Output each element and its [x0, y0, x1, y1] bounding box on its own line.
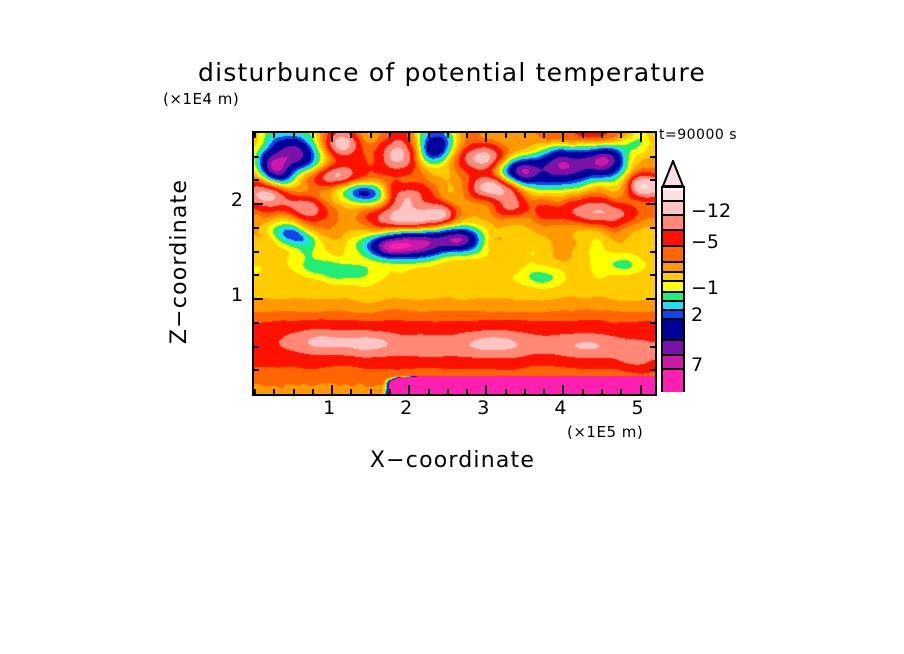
y-tick-right [650, 156, 655, 158]
y-tick-left [254, 203, 263, 205]
x-tick-top [582, 133, 584, 138]
colorbar-band-separator [663, 200, 683, 202]
x-tick-bottom [389, 389, 391, 394]
y-axis-title: Z−coordinate [168, 160, 192, 363]
colorbar-band-separator [663, 245, 683, 247]
time-annotation: t=90000 s [659, 127, 737, 143]
z-axis-units-label: (×1E4 m) [163, 90, 239, 108]
x-tick-bottom [562, 385, 564, 394]
colorbar-band-separator [663, 309, 683, 311]
x-tick-bottom [466, 389, 468, 394]
x-tick-top [505, 133, 507, 138]
y-axis-title-text: Z−coordinate [168, 179, 193, 344]
x-tick-label: 2 [386, 397, 426, 419]
x-tick-top [408, 133, 410, 142]
colorbar-band-separator [663, 318, 683, 320]
y-tick-right [650, 227, 655, 229]
y-tick-label: 1 [203, 284, 243, 306]
y-tick-label: 2 [203, 189, 243, 211]
contour-plot-frame [252, 131, 657, 396]
y-tick-right [646, 203, 655, 205]
colorbar-band-separator [663, 229, 683, 231]
colorbar-band [663, 215, 683, 230]
x-tick-bottom [428, 389, 430, 394]
x-tick-top [543, 133, 545, 138]
colorbar-band [663, 230, 683, 246]
x-tick-label: 1 [309, 397, 349, 419]
x-tick-bottom [640, 385, 642, 394]
colorbar-band-separator [663, 339, 683, 341]
x-tick-bottom [350, 389, 352, 394]
colorbar-band [663, 369, 683, 392]
x-tick-label: 3 [463, 397, 503, 419]
x-tick-top [331, 133, 333, 142]
page-title: disturbunce of potential temperature [0, 58, 904, 87]
x-tick-top [485, 133, 487, 142]
x-tick-bottom [447, 389, 449, 394]
y-tick-left [254, 298, 263, 300]
x-tick-bottom [293, 389, 295, 394]
colorbar-band [663, 340, 683, 355]
colorbar-band-separator [663, 354, 683, 356]
colorbar-band-separator [663, 300, 683, 302]
y-tick-left [254, 227, 259, 229]
x-tick-top [620, 133, 622, 138]
colorbar-tick-label: 7 [691, 354, 703, 376]
colorbar-band-separator [663, 368, 683, 370]
x-tick-label: 5 [618, 397, 658, 419]
colorbar: 72−1−5−12 [661, 186, 685, 392]
y-tick-right [650, 369, 655, 371]
colorbar-band-separator [663, 214, 683, 216]
x-tick-top [466, 133, 468, 138]
x-tick-bottom [601, 389, 603, 394]
y-tick-left [254, 179, 259, 181]
y-tick-right [650, 251, 655, 253]
x-tick-bottom [254, 389, 256, 394]
x-tick-bottom [370, 389, 372, 394]
contour-field-canvas [254, 133, 655, 394]
y-tick-left [254, 322, 259, 324]
colorbar-tick-label: −5 [691, 231, 719, 253]
y-tick-left [254, 346, 259, 348]
colorbar-bands [661, 186, 685, 392]
x-tick-top [601, 133, 603, 138]
x-axis-units-label: (×1E5 m) [567, 423, 643, 441]
y-tick-right [650, 346, 655, 348]
x-tick-top [447, 133, 449, 138]
x-tick-bottom [331, 385, 333, 394]
x-tick-bottom [620, 389, 622, 394]
colorbar-band-separator [663, 280, 683, 282]
x-tick-bottom [485, 385, 487, 394]
x-tick-top [273, 133, 275, 138]
x-tick-bottom [505, 389, 507, 394]
x-tick-bottom [408, 385, 410, 394]
x-tick-top [370, 133, 372, 138]
colorbar-band-separator [663, 261, 683, 263]
y-tick-left [254, 274, 259, 276]
colorbar-band [663, 355, 683, 370]
y-tick-left [254, 251, 259, 253]
colorbar-band [663, 246, 683, 262]
x-tick-top [350, 133, 352, 138]
y-tick-right [650, 274, 655, 276]
x-tick-bottom [524, 389, 526, 394]
x-axis-title: X−coordinate [252, 448, 653, 473]
colorbar-arrow-icon [661, 160, 685, 187]
colorbar-tick-label: 2 [691, 304, 703, 326]
colorbar-band-separator [663, 271, 683, 273]
x-tick-top [312, 133, 314, 138]
x-tick-top [389, 133, 391, 138]
x-tick-bottom [543, 389, 545, 394]
x-tick-top [293, 133, 295, 138]
x-tick-top [254, 133, 256, 138]
x-tick-top [428, 133, 430, 138]
colorbar-band-separator [663, 291, 683, 293]
x-tick-bottom [312, 389, 314, 394]
colorbar-tick-label: −1 [691, 277, 719, 299]
y-tick-left [254, 156, 259, 158]
colorbar-band [663, 201, 683, 216]
y-tick-right [650, 322, 655, 324]
x-tick-bottom [582, 389, 584, 394]
x-tick-bottom [273, 389, 275, 394]
x-tick-top [524, 133, 526, 138]
y-tick-right [650, 179, 655, 181]
x-tick-label: 4 [540, 397, 580, 419]
y-tick-left [254, 369, 259, 371]
x-tick-top [562, 133, 564, 142]
colorbar-band [663, 319, 683, 340]
x-tick-top [640, 133, 642, 142]
colorbar-tick-label: −12 [691, 200, 731, 222]
y-tick-right [646, 298, 655, 300]
